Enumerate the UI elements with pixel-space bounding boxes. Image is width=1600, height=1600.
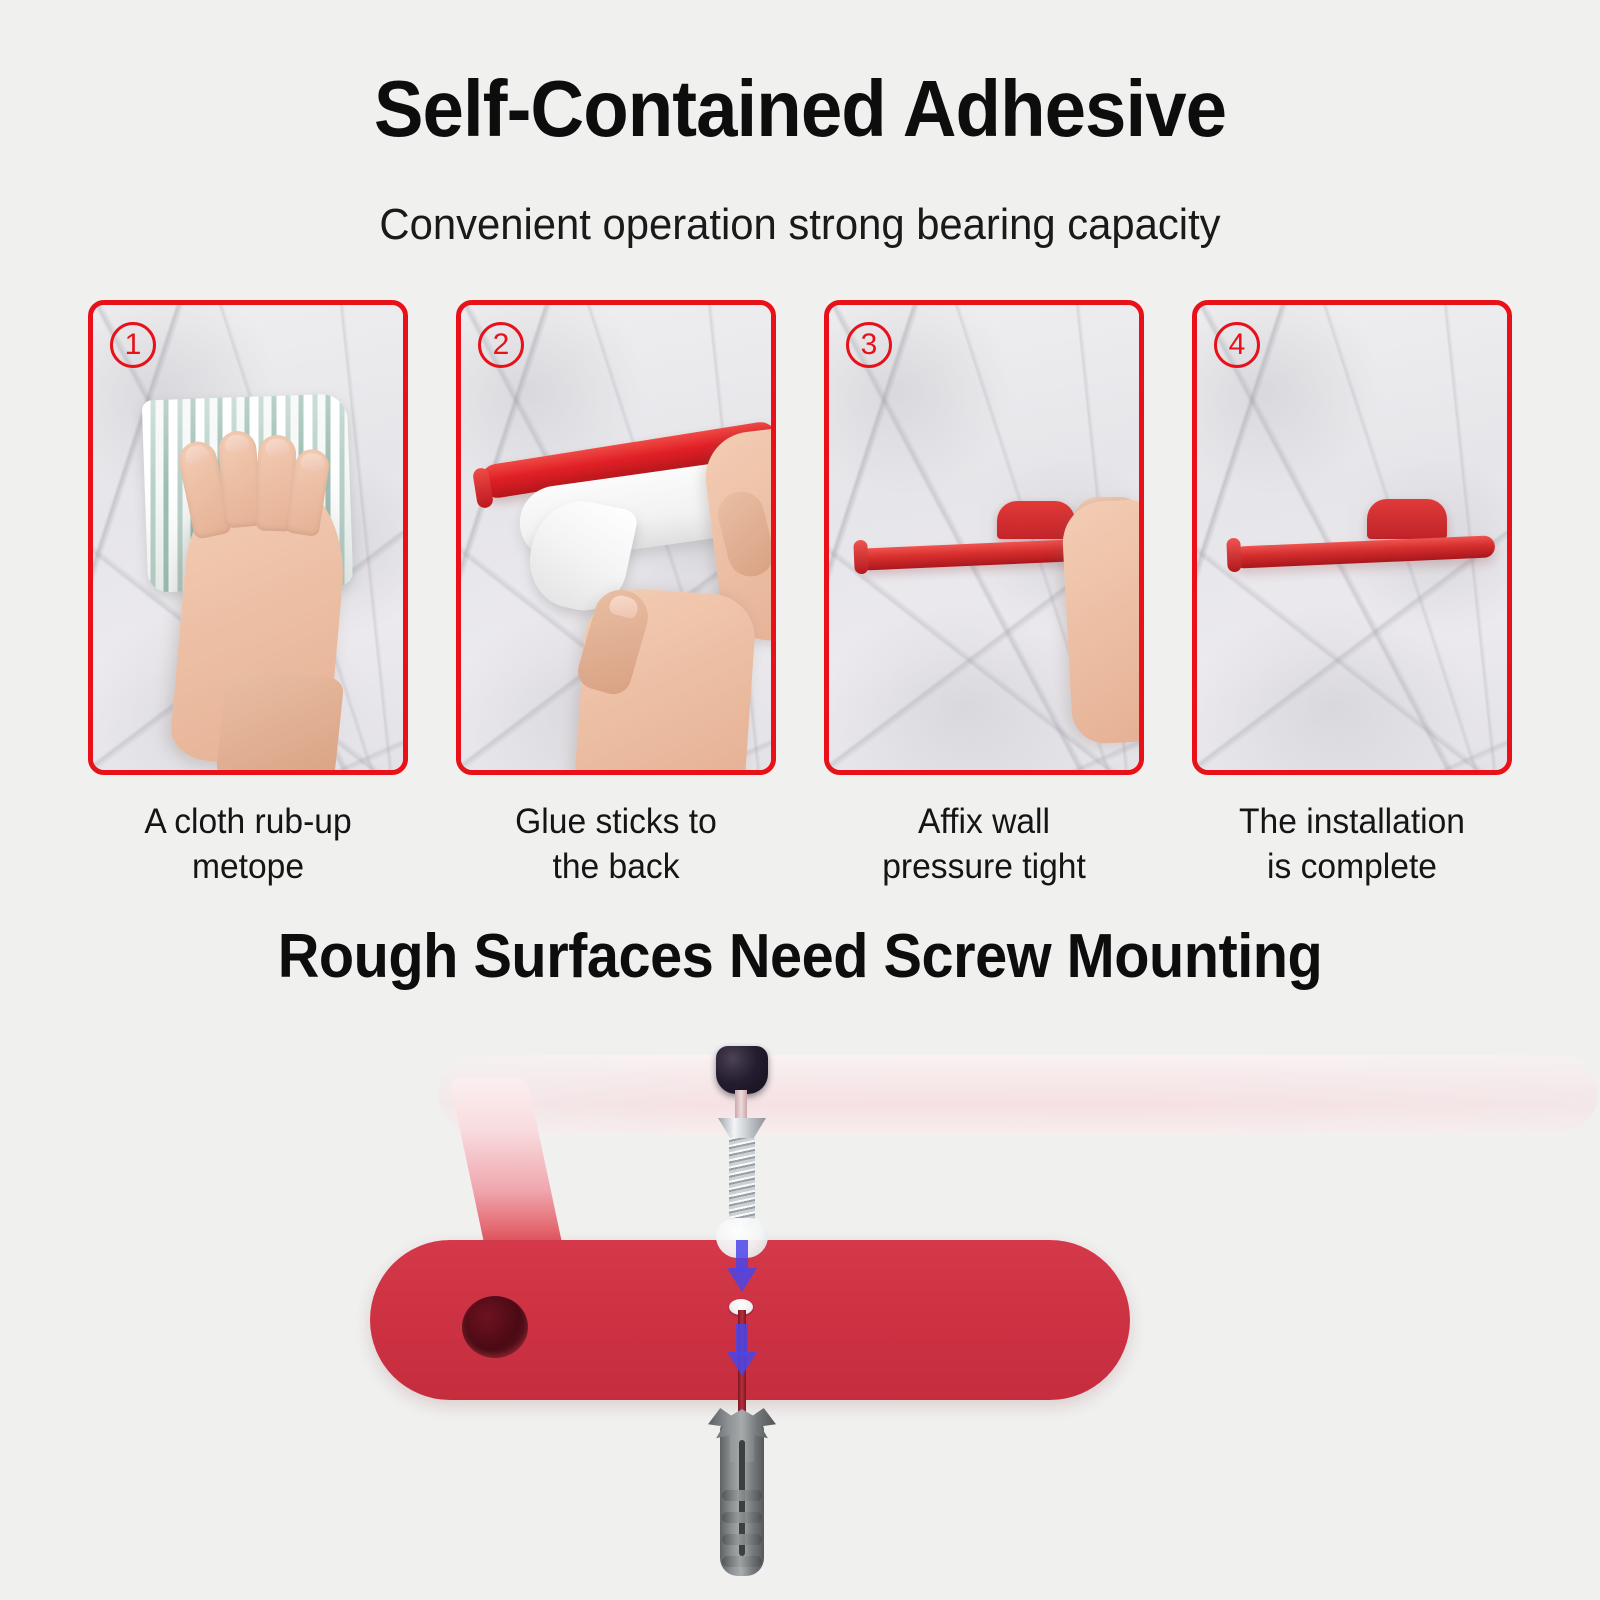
- step-caption-3: Affix wall pressure tight: [830, 799, 1137, 889]
- step-card-1: 1 A cloth rub-up metope: [88, 300, 408, 880]
- step-number-badge-3: 3: [846, 322, 892, 368]
- step-card-2: 2 Glue sticks to the back: [456, 300, 776, 880]
- thumbnail-icon: [608, 593, 640, 620]
- screw-section-title: Rough Surfaces Need Screw Mounting: [56, 918, 1544, 996]
- page-title: Self-Contained Adhesive: [56, 62, 1544, 156]
- step-caption-1: A cloth rub-up metope: [94, 799, 401, 889]
- arrow-head: [727, 1268, 757, 1292]
- red-bar-end-cap: [1226, 538, 1241, 573]
- bar-fade-overlay: [438, 1050, 1598, 1140]
- step-caption-line-1: The installation: [1198, 799, 1505, 844]
- black-rubber-cap-icon: [716, 1046, 768, 1094]
- step-image-frame-3: 3: [824, 300, 1144, 775]
- anchor-rib: [722, 1556, 762, 1567]
- red-bar-end-cap: [853, 540, 868, 575]
- step-image-frame-1: 1: [88, 300, 408, 775]
- fingernail-icon: [224, 434, 249, 453]
- fingernail-icon: [265, 439, 290, 457]
- step-caption-line-2: the back: [462, 844, 769, 889]
- step-caption-2: Glue sticks to the back: [462, 799, 769, 889]
- step-caption-4: The installation is complete: [1198, 799, 1505, 889]
- anchor-rib: [722, 1490, 762, 1501]
- step-caption-line-1: A cloth rub-up: [94, 799, 401, 844]
- step-number-badge-4: 4: [1214, 322, 1260, 368]
- hand-illustration: [1061, 499, 1144, 745]
- wrist-illustration: [215, 667, 344, 775]
- fingernail-icon: [300, 452, 326, 473]
- installation-steps-strip: 1 A cloth rub-up metope 2 Glue sticks to…: [88, 300, 1512, 880]
- anchor-rib: [722, 1512, 762, 1523]
- plate-screw-hole: [462, 1296, 528, 1358]
- step-number-badge-1: 1: [110, 322, 156, 368]
- step-number-badge-2: 2: [478, 322, 524, 368]
- step-image-frame-4: 4: [1192, 300, 1512, 775]
- gray-wall-anchor-icon: [706, 1394, 778, 1576]
- step-image-frame-2: 2: [456, 300, 776, 775]
- cap-neck: [735, 1090, 747, 1122]
- screw-thread-shaft-icon: [729, 1138, 755, 1226]
- step-card-3: 3 Affix wall pressure tight: [824, 300, 1144, 880]
- step-caption-line-2: is complete: [1198, 844, 1505, 889]
- step-caption-line-2: metope: [94, 844, 401, 889]
- step-card-4: 4 The installation is complete: [1192, 300, 1512, 880]
- step-caption-line-1: Glue sticks to: [462, 799, 769, 844]
- step-caption-line-2: pressure tight: [830, 844, 1137, 889]
- page-subtitle: Convenient operation strong bearing capa…: [40, 197, 1560, 253]
- red-mounting-plate: [1367, 499, 1447, 539]
- step-caption-line-1: Affix wall: [830, 799, 1137, 844]
- arrow-head: [727, 1352, 757, 1376]
- anchor-rib: [722, 1534, 762, 1545]
- fingernail-icon: [183, 443, 210, 465]
